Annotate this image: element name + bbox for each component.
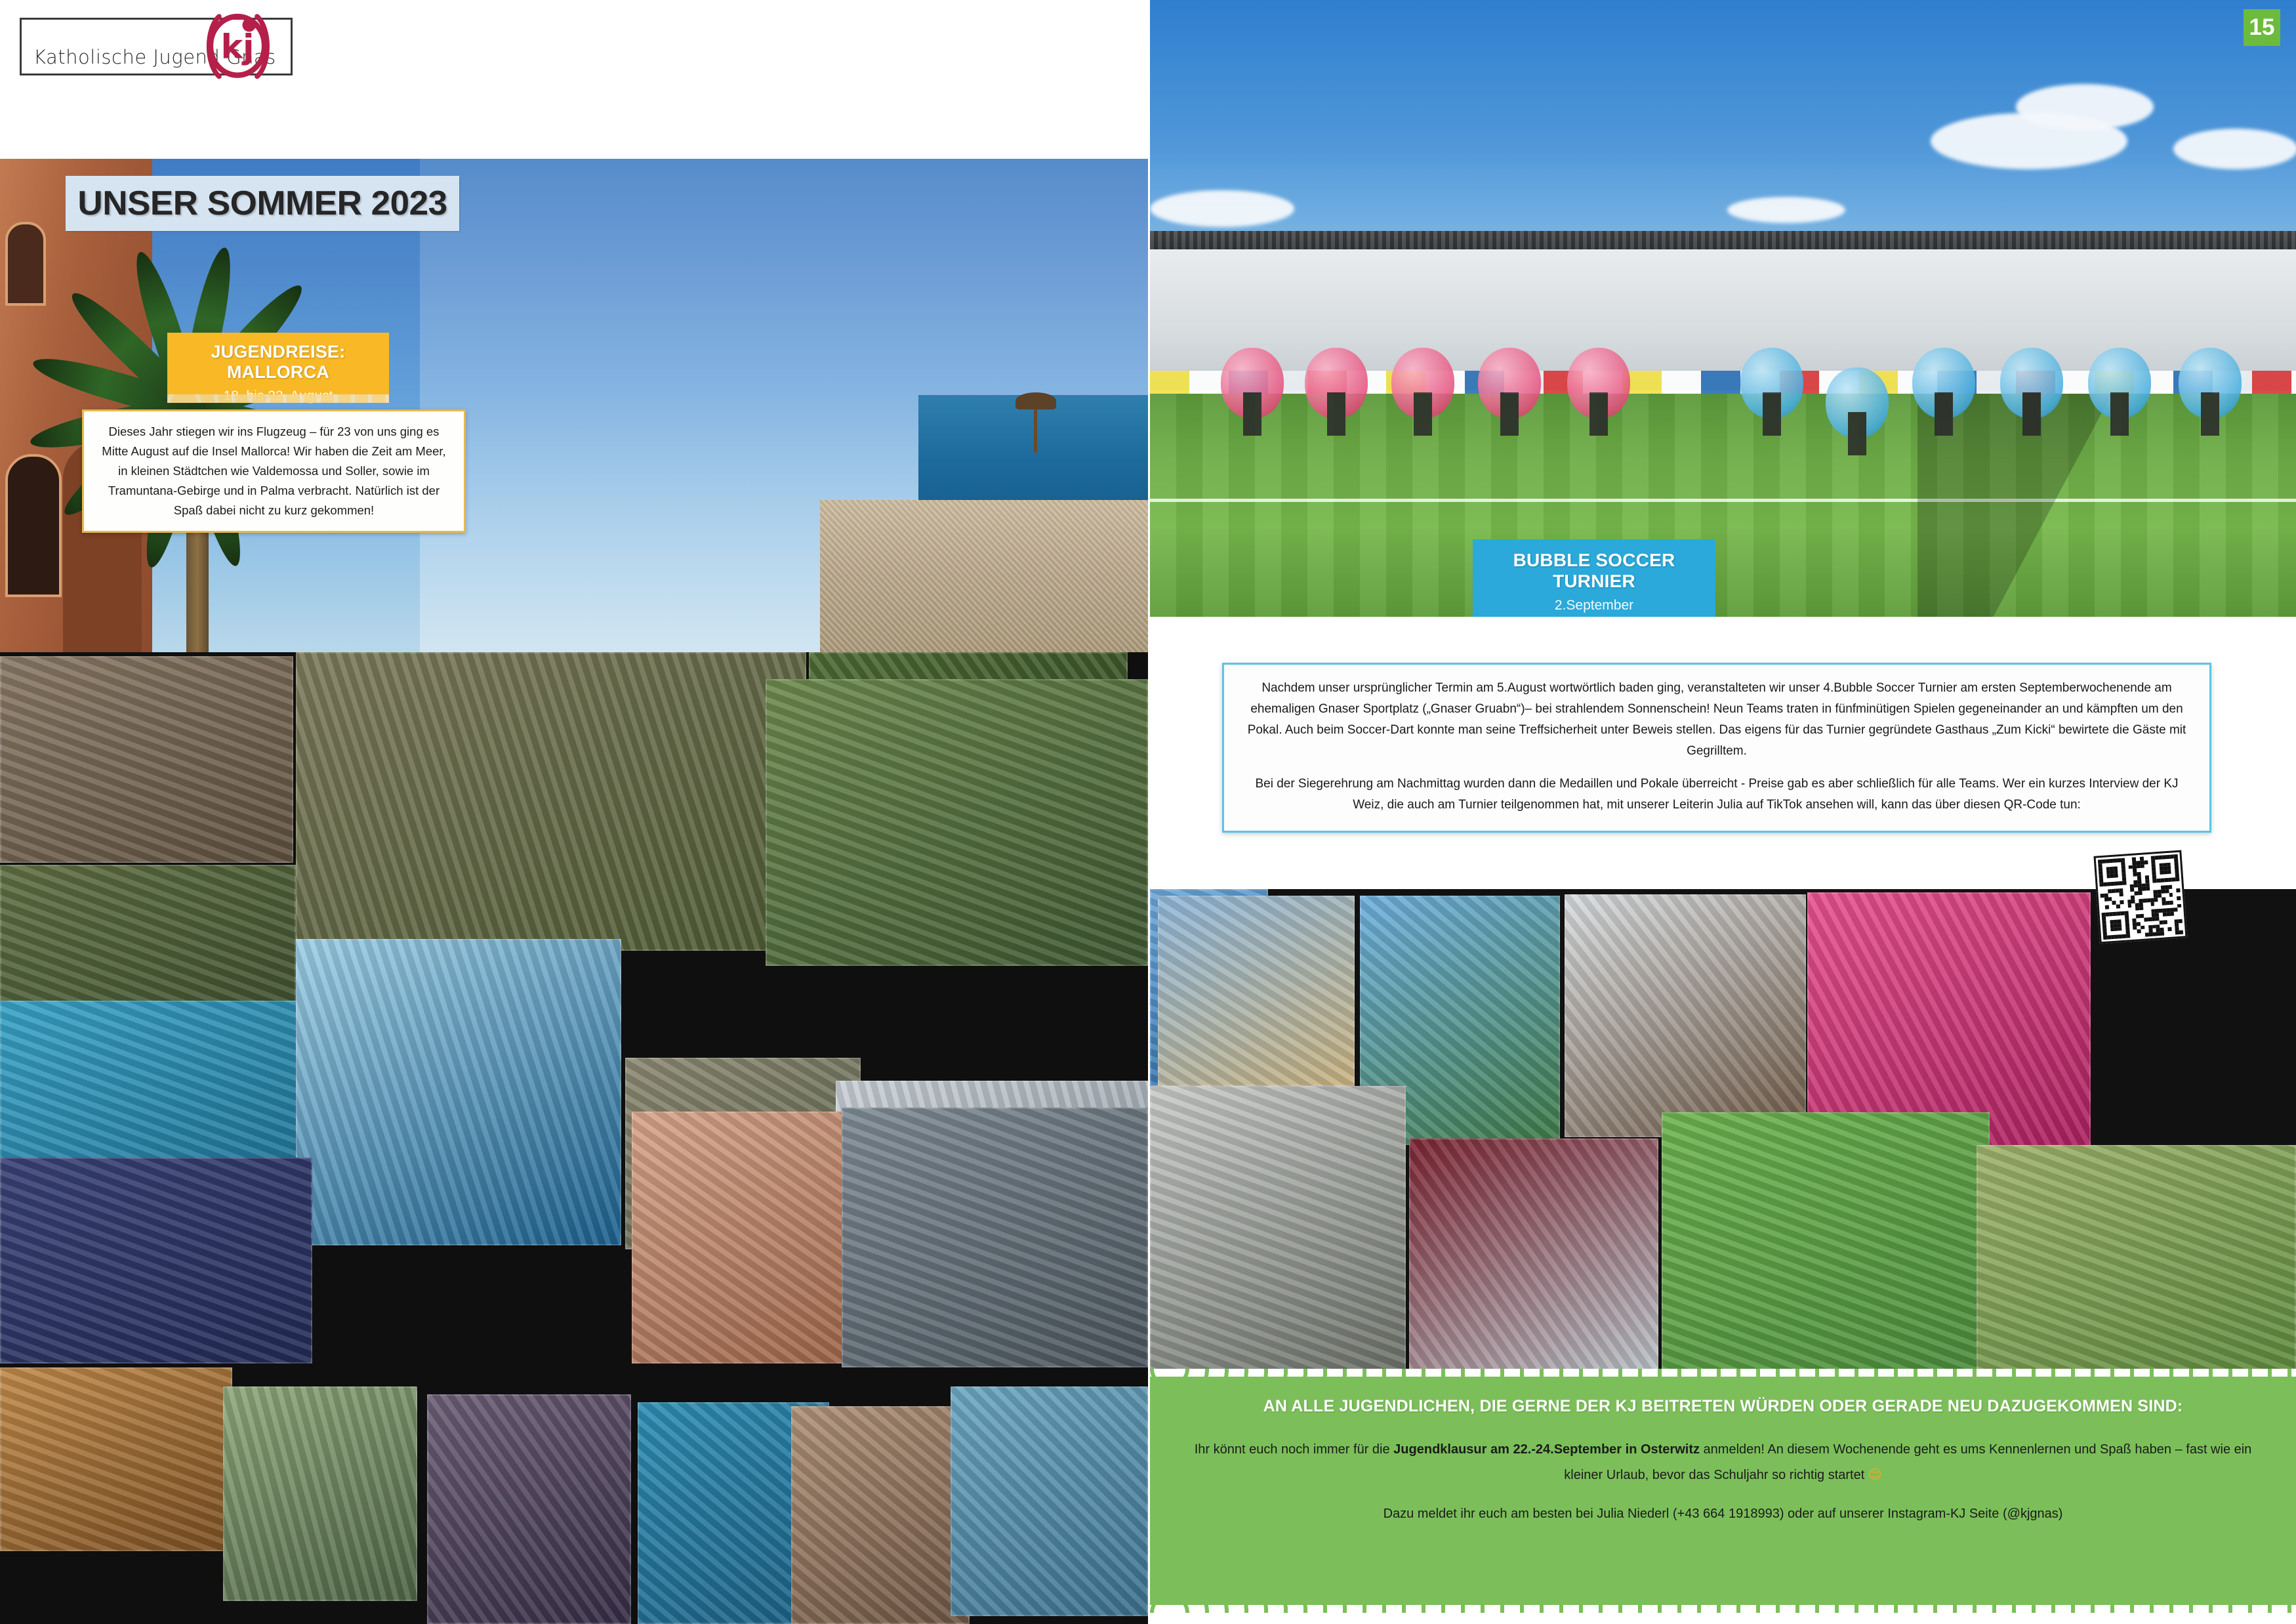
mallorca-paragraph: Dieses Jahr stiegen wir ins Flugzeug – f…	[96, 422, 452, 520]
svg-text:kj: kj	[221, 28, 255, 66]
bubble-soccer-paragraph-1: Nachdem unser ursprünglicher Termin am 5…	[1241, 678, 2192, 762]
photo-texture	[766, 679, 1148, 966]
bubble-ball	[1740, 348, 1803, 419]
qr-module	[2146, 886, 2150, 890]
photo-soccer-dart-start	[1977, 1145, 2296, 1371]
qr-module	[2177, 896, 2181, 900]
bubble-ball	[1391, 348, 1454, 419]
join-kj-callout: AN ALLE JUGENDLICHEN, DIE GERNE DER KJ B…	[1150, 1373, 2296, 1609]
photo-canyoning-team	[0, 1157, 312, 1364]
bubble-ball	[1567, 348, 1630, 419]
photo-cocktail-couple	[951, 1386, 1148, 1616]
photo-texture	[1565, 894, 1806, 1137]
photo-texture	[296, 652, 806, 951]
qr-module	[2174, 907, 2178, 911]
photo-texture	[427, 1394, 631, 1624]
photo-texture	[791, 1406, 970, 1624]
magazine-page: Katholische Jugend Gnas kj	[0, 0, 2296, 1624]
callout-bottom-edge	[1150, 1605, 2296, 1613]
photo-texture	[0, 1367, 232, 1551]
right-column: 15 BUBBLE SOCCER TURNIER 2.September Nac…	[1150, 0, 2296, 1624]
badge-wave-edge	[167, 394, 389, 403]
qr-module	[2127, 904, 2131, 907]
callout-body: Ihr könnt euch noch immer für die Jugend…	[1150, 1420, 2296, 1527]
bubble-soccer-badge-date: 2.September	[1479, 598, 1709, 614]
bubble-ball	[1305, 348, 1368, 419]
qr-module	[2120, 892, 2123, 896]
photo-texture	[1150, 1086, 1406, 1371]
photo-texture	[296, 939, 621, 1245]
photo-texture	[632, 1112, 861, 1364]
qr-module	[2150, 902, 2154, 906]
callout-line1-pre: Ihr könnt euch noch immer für die	[1195, 1442, 1393, 1457]
qr-module	[2169, 893, 2173, 897]
qr-module	[2144, 860, 2148, 864]
photo-texture	[223, 1386, 417, 1601]
cloud-shape	[1727, 197, 1845, 223]
page-title-banner: UNSER SOMMER 2023	[66, 176, 459, 231]
qr-module	[2177, 904, 2181, 907]
qr-module	[2126, 934, 2130, 938]
qr-module	[2179, 930, 2183, 934]
mallorca-hero-photo: UNSER SOMMER 2023 JUGENDREISE: MALLORCA …	[0, 159, 1148, 652]
qr-module	[2168, 885, 2172, 889]
callout-line1-bold: Jugendklausur am 22.-24.September in Ost…	[1393, 1442, 1700, 1457]
photo-jeep-safari	[766, 679, 1148, 966]
mallorca-badge-title: JUGENDREISE: MALLORCA	[176, 342, 380, 383]
bubble-ball	[2179, 348, 2242, 419]
bubble-ball	[2088, 348, 2151, 419]
callout-line2: Dazu meldet ihr euch am besten bei Julia…	[1384, 1507, 2063, 1521]
qr-module	[2169, 900, 2173, 904]
left-column: Katholische Jugend Gnas kj	[0, 0, 1148, 1624]
bubble-soccer-text-box: Nachdem unser ursprünglicher Termin am 5…	[1222, 663, 2211, 833]
photo-airport-crowd	[842, 1108, 1148, 1367]
mallorca-text-box: Dieses Jahr stiegen wir ins Flugzeug – f…	[82, 409, 466, 533]
qr-module	[2141, 925, 2144, 929]
bubble-ball	[1912, 348, 1975, 419]
qr-module	[2116, 904, 2120, 908]
beach-parasol-icon	[1015, 390, 1056, 453]
bubble-soccer-badge-title: BUBBLE SOCCER TURNIER	[1479, 550, 1709, 592]
photo-big-group-jeeps	[296, 652, 806, 951]
qr-module	[2170, 912, 2174, 916]
photo-texture	[0, 1157, 312, 1364]
photo-texture	[1409, 1138, 1658, 1371]
mallorca-badge: JUGENDREISE: MALLORCA 18. bis 22. August	[167, 333, 389, 394]
bubble-ball	[1221, 348, 1284, 419]
photo-medal-group	[1150, 1086, 1406, 1371]
photo-texture	[0, 656, 293, 863]
qr-module	[2139, 906, 2143, 910]
qr-module	[2175, 877, 2179, 881]
mallorca-photo-collage	[0, 652, 1148, 1624]
photo-texture	[842, 1108, 1148, 1367]
qr-module	[2167, 927, 2171, 931]
bubble-ball	[2000, 348, 2063, 419]
photo-maroon-team	[1409, 1138, 1658, 1371]
cloud-shape	[2016, 84, 2154, 130]
qr-module	[2154, 898, 2158, 902]
qr-module	[2140, 864, 2144, 868]
photo-street-ice-cream	[791, 1406, 970, 1624]
tree-shadow	[1917, 394, 2285, 617]
photo-texture	[1158, 896, 1355, 1086]
qr-module	[2118, 927, 2122, 931]
callout-heading: AN ALLE JUGENDLICHEN, DIE GERNE DER KJ B…	[1150, 1373, 2296, 1420]
qr-module	[2137, 929, 2141, 933]
qr-module	[2122, 881, 2126, 885]
photo-bubble-roll-field	[1662, 1112, 1990, 1371]
bubble-soccer-hero-photo: 15 BUBBLE SOCCER TURNIER 2.September	[1150, 0, 2296, 617]
qr-module	[2120, 900, 2123, 904]
page-number-badge: 15	[2244, 9, 2280, 46]
photo-grill-gasthaus	[1565, 894, 1806, 1137]
page-title: UNSER SOMMER 2023	[62, 176, 463, 231]
cloud-shape	[2173, 129, 2296, 169]
bubble-ball	[1478, 348, 1541, 419]
qr-module	[2105, 905, 2109, 909]
bubble-soccer-photo-collage	[1150, 889, 2296, 1371]
photo-paella-plate	[0, 1367, 232, 1551]
qr-module	[2167, 870, 2171, 874]
qr-module	[2160, 932, 2164, 936]
qr-module	[2114, 874, 2118, 878]
photo-texture	[1662, 1112, 1990, 1371]
photo-arcade-walkway	[632, 1112, 861, 1364]
org-logo-box: Katholische Jugend Gnas kj	[20, 18, 293, 75]
photo-beach-bar-group	[0, 656, 293, 863]
photo-texture	[951, 1386, 1148, 1616]
qr-module	[2176, 888, 2180, 892]
photo-medal-pair	[1158, 896, 1355, 1086]
bubble-soccer-badge: BUBBLE SOCCER TURNIER 2.September	[1473, 539, 1715, 617]
photo-sea-cliff-view	[296, 939, 621, 1245]
beach-sand	[820, 500, 1148, 652]
bubble-soccer-paragraph-2: Bei der Siegerehrung am Nachmittag wurde…	[1241, 774, 2192, 816]
qr-module	[2179, 919, 2183, 923]
photo-texture	[1977, 1145, 2296, 1371]
photo-cathedral-palma	[427, 1394, 631, 1624]
qr-module	[2138, 891, 2142, 895]
qr-module	[2163, 920, 2167, 924]
kj-logo-icon: kj	[199, 8, 276, 81]
callout-top-edge	[1150, 1369, 2296, 1377]
bubble-ball	[1826, 367, 1889, 438]
cloud-shape	[1150, 190, 1294, 227]
tiktok-qr-code[interactable]	[2093, 850, 2187, 944]
masthead: Katholische Jugend Gnas kj	[0, 0, 1148, 159]
smiley-icon: 😊	[1868, 1468, 1882, 1482]
photo-suzuki-jeep-girls	[223, 1386, 417, 1601]
